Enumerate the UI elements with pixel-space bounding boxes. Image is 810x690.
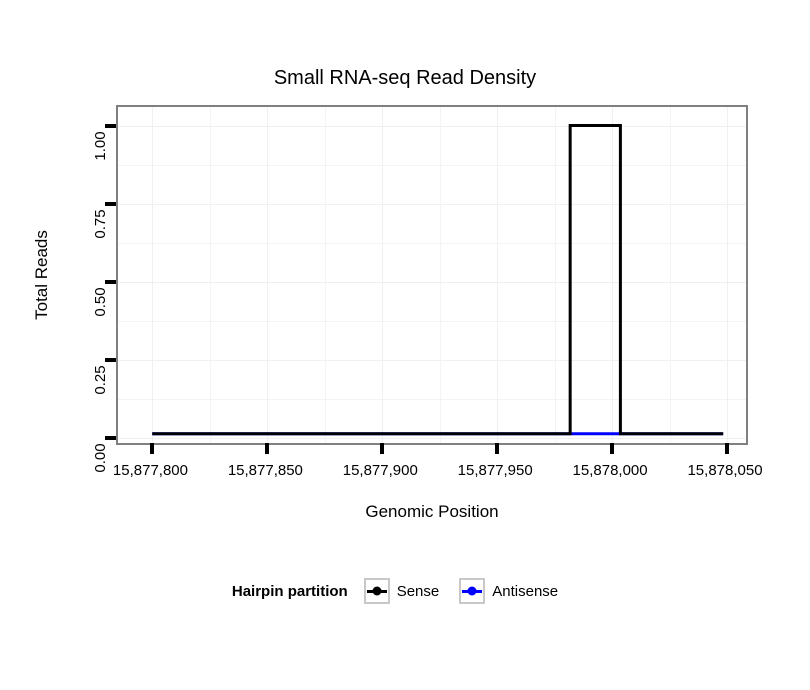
- legend-key-icon: [459, 578, 485, 604]
- legend-label: Antisense: [492, 583, 558, 600]
- legend-entries: SenseAntisense: [364, 578, 578, 604]
- series-line-sense: [152, 125, 723, 433]
- y-axis-tick: [105, 358, 116, 362]
- legend-key-point: [372, 587, 381, 596]
- y-axis-tick: [105, 202, 116, 206]
- chart-title: Small RNA-seq Read Density: [0, 66, 810, 90]
- data-series-layer: [118, 107, 746, 443]
- legend-label: Sense: [397, 583, 440, 600]
- x-axis-tick: [265, 443, 269, 454]
- plot-panel: [116, 105, 748, 445]
- x-axis-tick-labels: 15,877,80015,877,85015,877,90015,877,950…: [116, 462, 748, 486]
- y-axis-tick-labels: 0.000.250.500.751.00: [0, 105, 102, 445]
- x-axis-tick: [610, 443, 614, 454]
- x-axis-tick: [150, 443, 154, 454]
- y-axis-tick: [105, 436, 116, 440]
- x-axis-tick: [380, 443, 384, 454]
- x-axis-tick: [725, 443, 729, 454]
- legend-key-icon: [364, 578, 390, 604]
- legend: Hairpin partition SenseAntisense: [0, 578, 810, 604]
- x-axis-title: Genomic Position: [116, 502, 748, 522]
- x-axis-tick: [495, 443, 499, 454]
- legend-title: Hairpin partition: [232, 583, 348, 600]
- y-axis-tick: [105, 124, 116, 128]
- x-axis-tick-label: 15,878,050: [645, 462, 805, 479]
- legend-key-point: [468, 587, 477, 596]
- legend-item-antisense[interactable]: Antisense: [459, 578, 572, 604]
- y-axis-tick: [105, 280, 116, 284]
- legend-item-sense[interactable]: Sense: [364, 578, 454, 604]
